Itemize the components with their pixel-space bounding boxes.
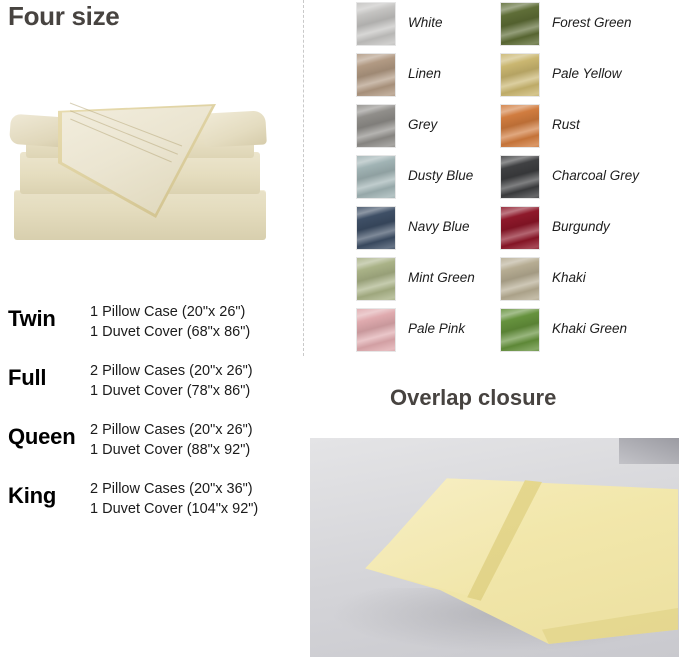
swatch-label: Linen [408, 66, 441, 81]
swatch-label: Forest Green [552, 15, 632, 30]
color-swatch-grid: White Linen Grey Dusty Blue Navy Blue Mi… [303, 0, 679, 360]
swatch-label: Burgundy [552, 219, 610, 234]
swatch-label: Pale Yellow [552, 66, 622, 81]
pillow-overlap-closure-photo [310, 438, 679, 657]
fabric-sheen-overlay [500, 156, 540, 198]
swatch-label: Pale Pink [408, 321, 465, 336]
size-line-duvet: 1 Duvet Cover (104"x 92") [90, 499, 258, 519]
swatch-label: Navy Blue [408, 219, 470, 234]
size-table: Twin 1 Pillow Case (20"x 26") 1 Duvet Co… [0, 296, 303, 532]
color-swatch [500, 104, 540, 148]
swatch-label: Rust [552, 117, 580, 132]
bedding-roll-right [203, 110, 267, 147]
table-row: Twin 1 Pillow Case (20"x 26") 1 Duvet Co… [0, 296, 303, 355]
size-name: Queen [8, 424, 75, 450]
size-contents: 2 Pillow Cases (20"x 26") 1 Duvet Cover … [90, 420, 253, 460]
color-swatch [356, 206, 396, 250]
four-size-heading: Four size [8, 0, 119, 32]
fabric-sheen-overlay [500, 105, 540, 147]
product-infographic: Four size Twin 1 Pillow Case (20"x 26") … [0, 0, 679, 657]
fabric-sheen-overlay [500, 3, 540, 45]
color-swatch [356, 308, 396, 352]
size-line-duvet: 1 Duvet Cover (68"x 86") [90, 322, 250, 342]
fabric-sheen-overlay [356, 105, 396, 147]
overlap-closure-heading: Overlap closure [390, 385, 556, 411]
fabric-sheen-overlay [356, 54, 396, 96]
color-swatch [500, 155, 540, 199]
table-row: Full 2 Pillow Cases (20"x 26") 1 Duvet C… [0, 355, 303, 414]
color-swatch [356, 2, 396, 46]
fabric-sheen-overlay [500, 309, 540, 351]
table-row: King 2 Pillow Cases (20"x 36") 1 Duvet C… [0, 473, 303, 532]
fabric-sheen-overlay [356, 3, 396, 45]
swatch-label: White [408, 15, 443, 30]
color-swatch [356, 104, 396, 148]
size-contents: 2 Pillow Cases (20"x 26") 1 Duvet Cover … [90, 361, 253, 401]
size-name: Full [8, 365, 46, 391]
size-line-duvet: 1 Duvet Cover (78"x 86") [90, 381, 253, 401]
color-swatch [500, 53, 540, 97]
color-swatch [500, 2, 540, 46]
color-swatch [500, 206, 540, 250]
size-line-pillow: 2 Pillow Cases (20"x 26") [90, 420, 253, 440]
color-swatch [500, 308, 540, 352]
size-name: Twin [8, 306, 56, 332]
size-line-pillow: 2 Pillow Cases (20"x 26") [90, 361, 253, 381]
size-name: King [8, 483, 56, 509]
photo-background-corner [619, 438, 679, 464]
size-line-pillow: 1 Pillow Case (20"x 26") [90, 302, 250, 322]
color-swatch [356, 53, 396, 97]
size-line-duvet: 1 Duvet Cover (88"x 92") [90, 440, 253, 460]
fabric-sheen-overlay [356, 207, 396, 249]
fabric-sheen-overlay [356, 258, 396, 300]
size-contents: 2 Pillow Cases (20"x 36") 1 Duvet Cover … [90, 479, 258, 519]
color-swatch [356, 257, 396, 301]
bedding-stack-photo [8, 62, 278, 252]
fabric-sheen-overlay [500, 54, 540, 96]
size-line-pillow: 2 Pillow Cases (20"x 36") [90, 479, 258, 499]
swatch-label: Khaki Green [552, 321, 627, 336]
color-swatch [356, 155, 396, 199]
swatch-label: Khaki [552, 270, 586, 285]
table-row: Queen 2 Pillow Cases (20"x 26") 1 Duvet … [0, 414, 303, 473]
four-size-panel: Four size Twin 1 Pillow Case (20"x 26") … [0, 0, 303, 657]
color-swatch [500, 257, 540, 301]
fabric-sheen-overlay [500, 207, 540, 249]
swatch-label: Grey [408, 117, 437, 132]
size-contents: 1 Pillow Case (20"x 26") 1 Duvet Cover (… [90, 302, 250, 342]
fabric-sheen-overlay [356, 309, 396, 351]
fabric-sheen-overlay [500, 258, 540, 300]
swatch-label: Dusty Blue [408, 168, 473, 183]
fabric-sheen-overlay [356, 156, 396, 198]
swatch-label: Charcoal Grey [552, 168, 639, 183]
swatch-label: Mint Green [408, 270, 475, 285]
